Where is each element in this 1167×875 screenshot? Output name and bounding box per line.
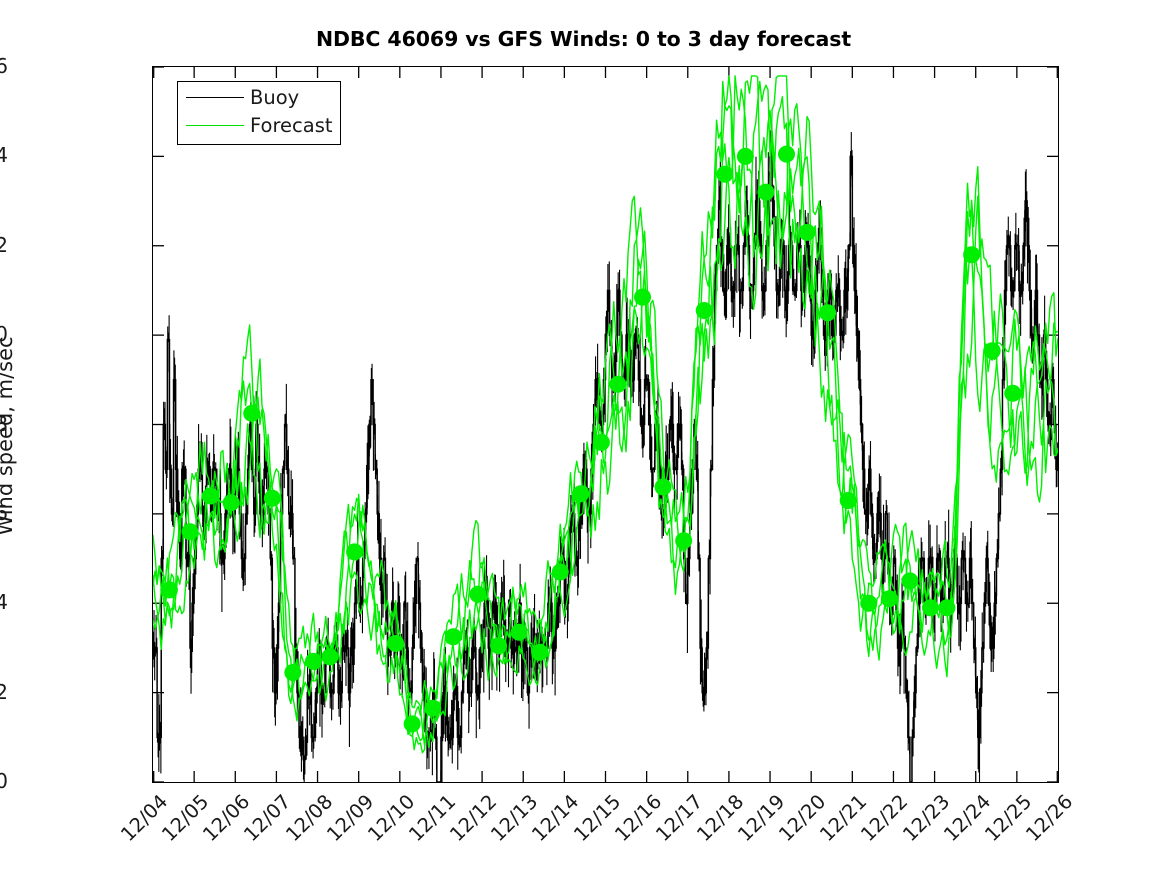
legend-item-buoy: Buoy bbox=[178, 84, 340, 111]
legend-swatch-buoy bbox=[186, 97, 244, 98]
legend-label-buoy: Buoy bbox=[250, 84, 299, 111]
y-axis-title: Wind speed, m/sec bbox=[0, 176, 17, 696]
legend-item-forecast: Forecast bbox=[178, 112, 340, 139]
page-title: NDBC 46069 vs GFS Winds: 0 to 3 day fore… bbox=[0, 27, 1167, 51]
plot-area: Buoy Forecast bbox=[152, 66, 1059, 783]
legend-swatch-forecast bbox=[186, 125, 244, 126]
y-tick-label: 14 bbox=[0, 143, 8, 167]
legend: Buoy Forecast bbox=[177, 81, 341, 145]
legend-label-forecast: Forecast bbox=[250, 112, 333, 139]
y-tick-label: 0 bbox=[0, 769, 8, 793]
forecast-marker-points bbox=[161, 146, 1021, 733]
plot-canvas bbox=[153, 67, 1058, 782]
y-tick-label: 16 bbox=[0, 54, 8, 78]
chart-figure: NDBC 46069 vs GFS Winds: 0 to 3 day fore… bbox=[0, 0, 1167, 875]
